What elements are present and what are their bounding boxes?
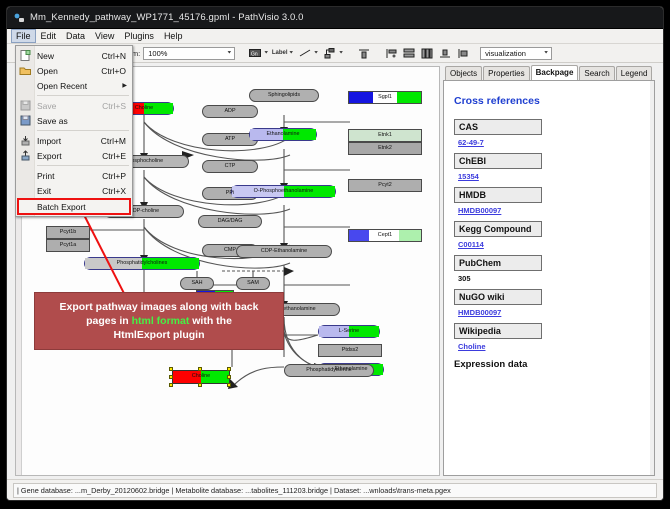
node-label: DAG/DAG (218, 219, 243, 224)
xref-source-label: Wikipedia (454, 323, 542, 339)
node-etnk2[interactable]: Etnk2 (348, 142, 422, 155)
menu-item-import[interactable]: Import Ctrl+M (16, 133, 132, 148)
pathvisio-window: Mm_Kennedy_pathway_WP1771_45176.gpml - P… (6, 6, 664, 501)
tab-objects[interactable]: Objects (445, 66, 482, 80)
node-sam[interactable]: SAM (236, 277, 270, 290)
new-document-icon (19, 50, 32, 61)
visualization-value: visualization (485, 49, 526, 58)
node-label: Etnk1 (378, 133, 392, 138)
node-label: ADP (224, 109, 235, 114)
xref-link[interactable]: HMDB00097 (458, 308, 501, 317)
xref-link[interactable]: C00114 (458, 240, 484, 249)
node-label: CMP (224, 248, 236, 253)
zoom-value: 100% (148, 49, 167, 58)
node-pcyt1b[interactable]: Pcyt1b (46, 226, 90, 239)
node-label: Ethanolamine (267, 132, 300, 137)
selection-handle-se[interactable] (227, 383, 231, 387)
status-text: | Gene database: ...m_Derby_20120602.bri… (13, 483, 657, 498)
submenu-arrow-icon: ▶ (122, 82, 127, 89)
selection-handle-s[interactable] (198, 383, 202, 387)
selection-handle-e[interactable] (227, 375, 231, 379)
interaction-icon[interactable] (322, 46, 337, 60)
align-left-icon[interactable] (383, 46, 398, 60)
node-label: L-Serine (339, 329, 359, 334)
node-dag[interactable]: DAG/DAG (198, 215, 262, 228)
tab-backpage[interactable]: Backpage (531, 65, 579, 80)
menu-help[interactable]: Help (159, 29, 188, 43)
status-bar: | Gene database: ...m_Derby_20120602.bri… (7, 479, 663, 500)
xref-chebi: ChEBI 15354 (454, 153, 644, 181)
cross-references-title: Cross references (454, 95, 644, 107)
zoom-select[interactable]: 100% ▼ (143, 47, 235, 60)
menu-item-label: Save as (37, 116, 126, 126)
label-button-text: Label (272, 50, 288, 56)
backpage-content: Cross references CAS 62-49-7 ChEBI 15354… (443, 80, 655, 476)
menu-item-label: Import (37, 136, 101, 146)
import-icon (19, 135, 32, 146)
menu-item-label: Open (37, 66, 101, 76)
node-label: CDP-choline (129, 209, 159, 214)
menu-item-accel: Ctrl+P (102, 171, 132, 181)
annotation-line-1: Export pathway images along with back (60, 300, 259, 314)
svg-text:Gn: Gn (251, 52, 258, 58)
align-center-icon[interactable] (401, 46, 416, 60)
node-label: SAM (247, 281, 259, 286)
side-scrollbar[interactable] (650, 81, 654, 475)
xref-source-label: Kegg Compound (454, 221, 542, 237)
export-icon (19, 150, 32, 161)
xref-source-label: ChEBI (454, 153, 542, 169)
node-label: ATP (225, 137, 235, 142)
node-label: Ptdss2 (342, 348, 358, 353)
menu-separator-3 (37, 165, 129, 166)
expression-data-title: Expression data (454, 359, 644, 370)
xref-link[interactable]: Choline (458, 342, 486, 351)
xref-pubchem: PubChem 305 (454, 255, 644, 283)
xref-link[interactable]: 62-49-7 (458, 138, 484, 147)
label-icon[interactable]: Label (272, 46, 287, 60)
node-label: Phosphatidylcholines (117, 261, 168, 266)
align-top-icon[interactable] (356, 46, 371, 60)
annotation-callout: Export pathway images along with back pa… (34, 292, 284, 350)
xref-cas: CAS 62-49-7 (454, 119, 644, 147)
menu-item-accel: Ctrl+M (101, 136, 132, 146)
node-sah[interactable]: SAH (180, 277, 214, 290)
save-disk-icon (19, 100, 32, 111)
xref-link[interactable]: 15354 (458, 172, 479, 181)
align-middle-icon[interactable] (419, 46, 434, 60)
tab-properties[interactable]: Properties (483, 66, 529, 80)
xref-kegg-compound: Kegg Compound C00114 (454, 221, 644, 249)
chevron-down-icon-visualization: ▼ (543, 51, 549, 55)
menu-item-save-as[interactable]: Save as (16, 113, 132, 128)
menu-item-label: Exit (37, 186, 102, 196)
node-label: Choline (135, 106, 153, 111)
menu-separator-2 (37, 130, 129, 131)
xref-nugo-wiki: NuGO wiki HMDB00097 (454, 289, 644, 317)
menu-item-label: Open Recent (37, 81, 132, 91)
menu-file[interactable]: File (11, 29, 36, 43)
node-pcyt2[interactable]: Pcyt2 (348, 179, 422, 192)
xref-value[interactable]: C00114 (458, 240, 644, 249)
menu-item-label: Save (37, 101, 102, 111)
menu-plugins[interactable]: Plugins (119, 29, 159, 43)
menu-view[interactable]: View (90, 29, 119, 43)
menu-item-export[interactable]: Export Ctrl+E (16, 148, 132, 163)
menu-item-label: Batch Export (37, 202, 130, 212)
line-icon[interactable] (297, 46, 312, 60)
open-folder-icon (19, 65, 32, 76)
node-label: Pcyt2 (378, 183, 391, 188)
screen-background: Mm_Kennedy_pathway_WP1771_45176.gpml - P… (0, 0, 670, 509)
menu-item-save: Save Ctrl+S (16, 98, 132, 113)
menu-item-accel: Ctrl+X (102, 186, 132, 196)
node-etnk1[interactable]: Etnk1 (348, 129, 422, 142)
file-menu-dropdown[interactable]: New Ctrl+N Open Ctrl+O Open Recent ▶ Sav… (15, 45, 133, 217)
node-label: Pcyt1a (60, 243, 76, 248)
selection-handle-ne[interactable] (227, 367, 231, 371)
xref-link[interactable]: HMDB00097 (458, 206, 501, 215)
node-o-phosphoethanolamine[interactable]: O-Phosphoethanolamine (231, 185, 336, 198)
node-label: O-Phosphoethanolamine (254, 189, 314, 194)
window-title: Mm_Kennedy_pathway_WP1771_45176.gpml - P… (30, 12, 304, 23)
node-ethanolamine-top[interactable]: Ethanolamine (249, 128, 317, 141)
node-cept1[interactable]: Cept1 (348, 229, 422, 242)
chevron-down-icon-line[interactable]: ▼ (313, 51, 319, 55)
xref-source-label: CAS (454, 119, 542, 135)
menu-separator (37, 95, 129, 96)
node-label: Sphingolipids (268, 93, 300, 98)
tab-search[interactable]: Search (579, 66, 614, 80)
node-choline-selected[interactable]: Choline (172, 370, 230, 384)
tab-legend[interactable]: Legend (616, 66, 653, 80)
xref-wikipedia: Wikipedia Choline (454, 323, 644, 351)
menu-item-label: Print (37, 171, 102, 181)
menu-item-new[interactable]: New Ctrl+N (16, 48, 132, 63)
node-l-serine[interactable]: L-Serine (318, 325, 380, 338)
xref-source-label: NuGO wiki (454, 289, 542, 305)
pathvisio-icon (13, 12, 25, 24)
chevron-down-icon-interaction[interactable]: ▼ (338, 51, 344, 55)
node-label: Cept1 (378, 233, 392, 238)
menu-bar: File Edit Data View Plugins Help (7, 29, 663, 44)
annotation-line-2b: with the (189, 315, 232, 327)
side-panel: Objects Properties Backpage Search Legen… (443, 66, 655, 476)
node-ctp[interactable]: CTP (202, 160, 258, 173)
node-label: CDP-Ethanolamine (261, 249, 307, 254)
menu-edit[interactable]: Edit (36, 29, 62, 43)
selection-handle-n[interactable] (198, 367, 202, 371)
side-tab-row: Objects Properties Backpage Search Legen… (443, 66, 655, 80)
xref-hmdb: HMDB HMDB00097 (454, 187, 644, 215)
selection-handle-nw[interactable] (169, 367, 173, 371)
align-right-icon[interactable] (455, 46, 470, 60)
node-sphingolipids[interactable]: Sphingolipids (249, 89, 319, 102)
menu-item-accel: Ctrl+S (102, 101, 132, 111)
node-label: Choline (192, 374, 210, 379)
menu-item-accel: Ctrl+N (102, 51, 132, 61)
menu-item-accel: Ctrl+E (102, 151, 132, 161)
node-label: SAH (191, 281, 202, 286)
menu-item-open-recent[interactable]: Open Recent ▶ (16, 78, 132, 93)
node-adp[interactable]: ADP (202, 105, 258, 118)
xref-value[interactable]: HMDB00097 (458, 308, 644, 317)
title-bar: Mm_Kennedy_pathway_WP1771_45176.gpml - P… (7, 7, 663, 29)
annotation-line-2a: pages in (86, 315, 132, 327)
xref-value: 305 (458, 274, 644, 283)
chevron-down-icon: ▼ (226, 51, 232, 55)
xref-source-label: HMDB (454, 187, 542, 203)
node-ptdss2[interactable]: Ptdss2 (318, 344, 382, 357)
node-label: Sgpl1 (378, 95, 392, 100)
menu-item-open[interactable]: Open Ctrl+O (16, 63, 132, 78)
xref-source-label: PubChem (454, 255, 542, 271)
chevron-down-icon-gene[interactable]: ▼ (263, 51, 269, 55)
menu-item-accel: Ctrl+O (101, 66, 132, 76)
node-pcyt1a[interactable]: Pcyt1a (46, 239, 90, 252)
selection-handle-w[interactable] (169, 375, 173, 379)
selection-handle-sw[interactable] (169, 383, 173, 387)
menu-item-label: New (37, 51, 102, 61)
menu-item-batch-export[interactable]: Batch Export (18, 199, 130, 214)
node-label: Etnk2 (378, 146, 392, 151)
node-label: PPi (226, 191, 234, 196)
visualization-select[interactable]: visualization ▼ (480, 47, 552, 60)
menu-data[interactable]: Data (61, 29, 90, 43)
save-as-icon (19, 115, 32, 126)
xref-value[interactable]: HMDB00097 (458, 206, 644, 215)
node-cdp-ethanolamine[interactable]: CDP-Ethanolamine (236, 245, 332, 258)
node-phosphatidylcholines[interactable]: Phosphatidylcholines (84, 257, 200, 270)
menu-item-print[interactable]: Print Ctrl+P (16, 168, 132, 183)
align-bottom-icon[interactable] (437, 46, 452, 60)
gene-box-icon[interactable]: Gn (247, 46, 262, 60)
node-label: Phosphatidylserine (306, 368, 352, 373)
node-sgpl1[interactable]: Sgpl1 (348, 91, 422, 104)
node-label: Pcyt1b (60, 230, 76, 235)
node-label: CTP (225, 164, 236, 169)
menu-item-label: Export (37, 151, 102, 161)
xref-value[interactable]: 15354 (458, 172, 644, 181)
annotation-highlight: html format (132, 315, 190, 327)
menu-item-exit[interactable]: Exit Ctrl+X (16, 183, 132, 198)
annotation-line-3: HtmlExport plugin (60, 328, 259, 342)
xref-value[interactable]: 62-49-7 (458, 138, 644, 147)
xref-value[interactable]: Choline (458, 342, 644, 351)
chevron-down-icon-label[interactable]: ▼ (288, 51, 294, 55)
